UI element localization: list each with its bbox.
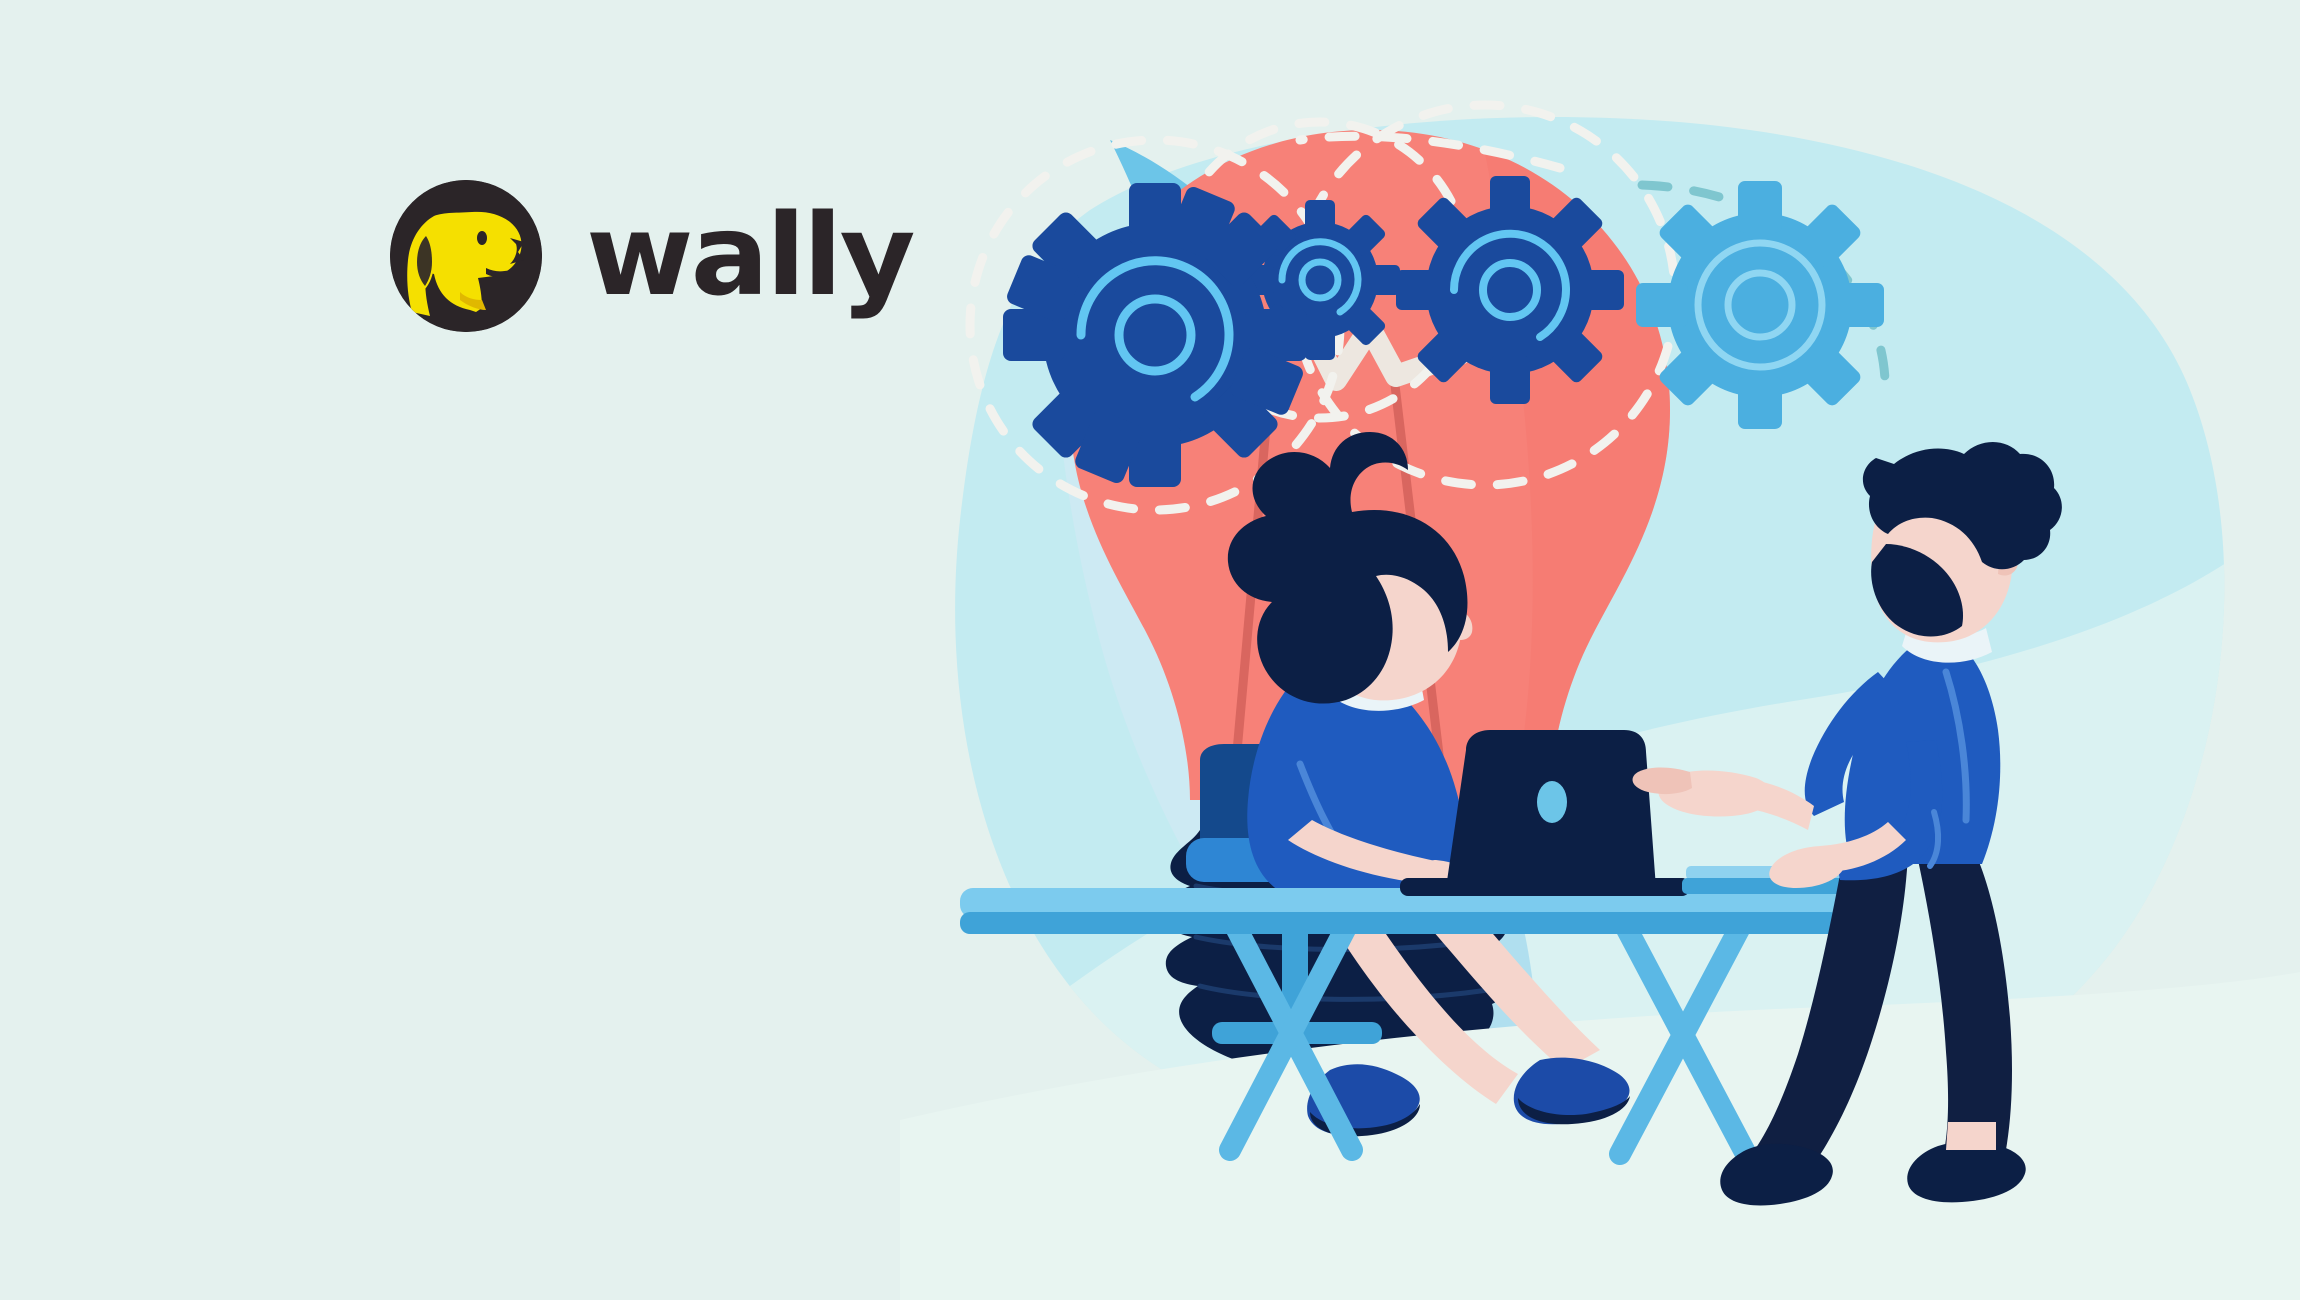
brand-wordmark: wally [586,200,912,312]
hero-illustration [900,60,2300,1300]
dog-head-logo-icon [390,180,542,332]
brand-lockup[interactable]: wally [390,180,900,332]
hero-canvas: wally [0,0,2300,1300]
